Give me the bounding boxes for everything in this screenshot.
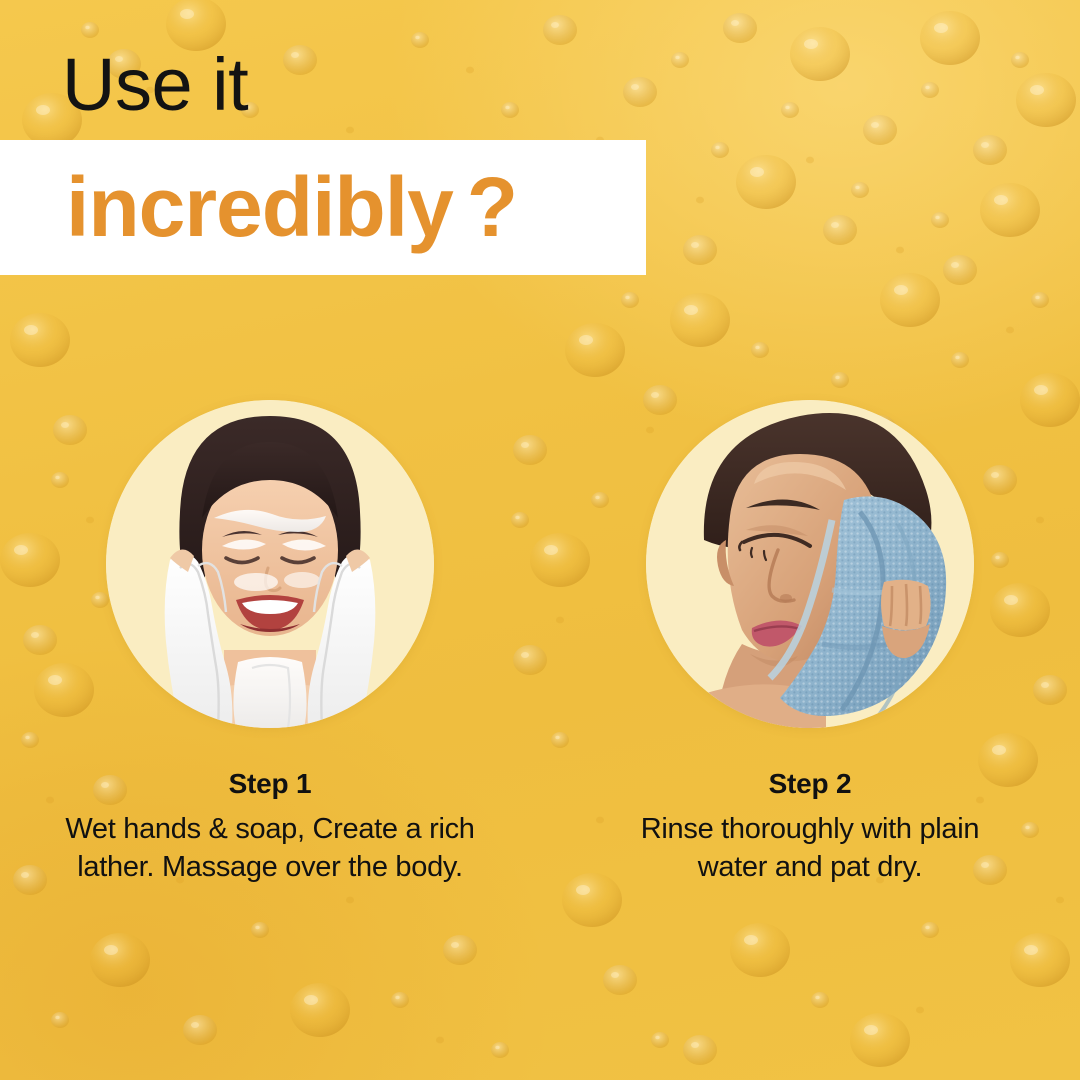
step-2-title: Step 2	[769, 768, 852, 800]
headline-line-1: Use it	[62, 44, 248, 126]
step-item-1: Step 1 Wet hands & soap, Create a rich l…	[0, 400, 540, 886]
headline-line-2-wrapper: incredibly?	[66, 157, 517, 257]
step-1-image	[106, 400, 434, 728]
step-1-description: Wet hands & soap, Create a rich lather. …	[20, 810, 520, 886]
headline-white-band: incredibly?	[0, 140, 646, 275]
headline-line-2: incredibly	[66, 160, 453, 254]
steps-row: Step 1 Wet hands & soap, Create a rich l…	[0, 400, 1080, 886]
promo-poster: Use it incredibly?	[0, 0, 1080, 1080]
step-item-2: Step 2 Rinse thoroughly with plain water…	[540, 400, 1080, 886]
headline-question-mark: ?	[467, 160, 517, 254]
step-2-description: Rinse thoroughly with plain water and pa…	[590, 810, 1030, 886]
step-2-image	[646, 400, 974, 728]
step-1-title: Step 1	[229, 768, 312, 800]
